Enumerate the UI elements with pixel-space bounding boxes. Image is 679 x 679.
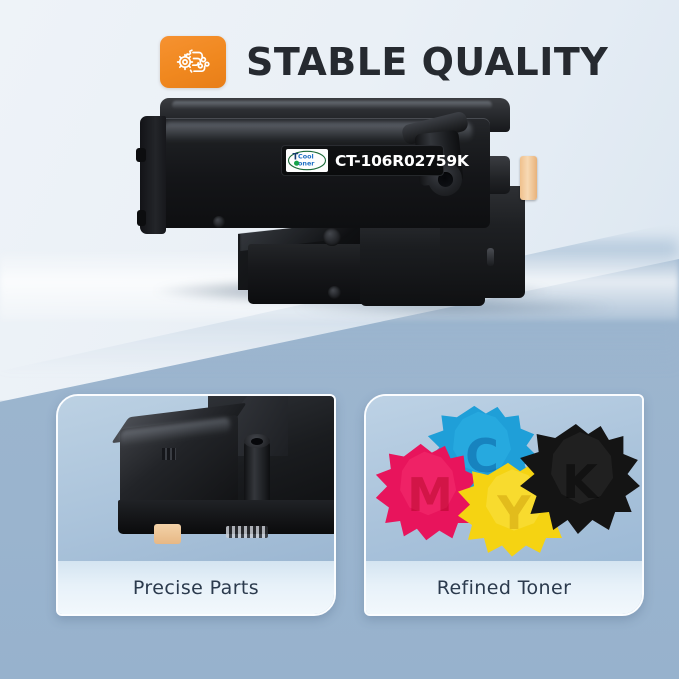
part-contact-strip [226, 526, 268, 538]
feature-cards: Precise Parts C [56, 394, 644, 612]
cartridge-screw [323, 228, 341, 246]
card-media-precise-parts [58, 396, 334, 561]
product-infographic: STABLE QUALITY T [0, 0, 679, 679]
part-cylinder-hole [251, 438, 263, 445]
cool-toner-logo: T Cool oner [286, 149, 328, 172]
cartridge-notch-lower [137, 210, 146, 226]
part-pull-tab [154, 524, 181, 544]
card-caption-refined-toner: Refined Toner [366, 561, 642, 614]
svg-text:oner: oner [298, 160, 315, 168]
header: STABLE QUALITY [160, 36, 608, 88]
cartridge-waste-bin-front [248, 244, 368, 304]
cartridge-pull-tab [520, 156, 537, 200]
card-caption-text: Refined Toner [437, 577, 572, 599]
card-caption-text: Precise Parts [133, 577, 259, 599]
part-connector-chip [162, 448, 176, 460]
feature-card-refined-toner: C M Y [364, 394, 644, 616]
product-label: T Cool oner CT-106R02759K [281, 145, 444, 176]
page-title: STABLE QUALITY [246, 40, 608, 84]
card-media-refined-toner: C M Y [366, 396, 642, 561]
toner-pile-black: K [518, 422, 642, 542]
hero-product-image: T Cool oner CT-106R02759K [120, 92, 570, 327]
cartridge-top-highlight [172, 101, 492, 109]
cartridge-notch-upper [136, 148, 146, 162]
toner-letter-black: K [518, 422, 642, 542]
cartridge-side-slot [487, 248, 494, 266]
gear-circuit-icon [160, 36, 226, 88]
cartridge-screw [328, 286, 341, 299]
product-code: CT-106R02759K [335, 152, 469, 170]
cartridge-screw [213, 216, 225, 228]
card-caption-precise-parts: Precise Parts [58, 561, 334, 614]
feature-card-precise-parts: Precise Parts [56, 394, 336, 616]
